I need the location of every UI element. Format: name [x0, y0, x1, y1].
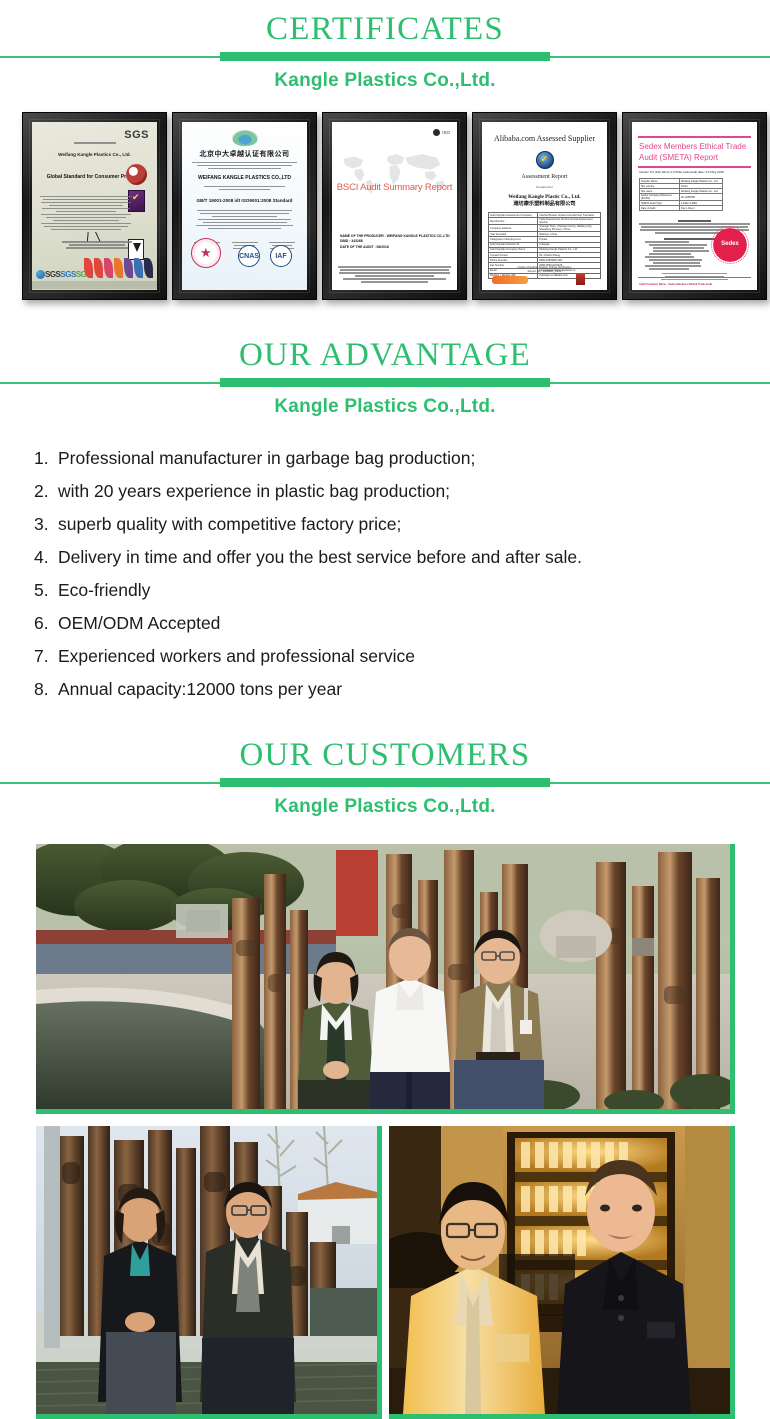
certificate-title: BSCI Audit Summary Report: [332, 182, 457, 193]
list-item-number: 4.: [34, 543, 58, 571]
certificate-title: Sedex Members Ethical Trade Audit (SMETA…: [639, 141, 750, 163]
photo-group-of-three[interactable]: [36, 844, 735, 1114]
verified-badge-icon: [536, 151, 554, 169]
list-item: 8. Annual capacity:12000 tons per year: [34, 675, 744, 703]
certificate-frame-sgs[interactable]: SGS Weifang Kangle Plastics Co., Ltd. Gl…: [22, 112, 167, 300]
certificate-page: 北京中大卓越认证有限公司 WEIFANG KANGLE PLASTICS CO.…: [182, 122, 307, 290]
iaf-logo-icon: IAF: [270, 245, 292, 267]
list-item: 4. Delivery in time and offer you the be…: [34, 543, 744, 571]
section-advantage-header: OUR ADVANTAGE Kangle Plastics Co.,Ltd.: [0, 300, 770, 422]
sgs-logo-text: SGS: [124, 129, 149, 141]
list-item: 6. OEM/ODM Accepted: [34, 609, 744, 637]
list-item-text: Professional manufacturer in garbage bag…: [58, 444, 744, 472]
decorative-ribbon: [32, 254, 157, 280]
certificate-frame-alibaba[interactable]: Alibaba.com Assessed Supplier Assessment…: [472, 112, 617, 300]
photo-image: [389, 1126, 730, 1414]
certificate-company: WEIFANG KANGLE PLASTICS CO.,LTD: [182, 175, 307, 181]
list-item: 5. Eco-friendly: [34, 576, 744, 604]
divider-thick-segment: [220, 52, 550, 61]
certificate-fineprint: [338, 265, 451, 285]
audit-info-table: Supplier NameWeifang Kangle Plastics Co.…: [639, 178, 723, 211]
section-subtitle: Kangle Plastics Co.,Ltd.: [0, 787, 770, 822]
iso-logo-icon: ISO: [433, 129, 450, 136]
certificate-footer-band: [32, 281, 157, 289]
list-item: 1. Professional manufacturer in garbage …: [34, 444, 744, 472]
list-item: 2. with 20 years experience in plastic b…: [34, 477, 744, 505]
top-rule: [638, 136, 751, 138]
photo-image: [36, 1126, 377, 1414]
prepared-for-label: Prepared for: [482, 185, 607, 189]
section-subtitle: Kangle Plastics Co.,Ltd.: [0, 61, 770, 96]
certificate-frame-bsci[interactable]: ISO BSCI Audit Summary Report: [322, 112, 467, 300]
list-item-number: 2.: [34, 477, 58, 505]
red-star-seal-icon: [191, 238, 221, 268]
second-rule: [638, 166, 751, 168]
alibaba-logo-icon: [492, 276, 528, 284]
list-item-number: 5.: [34, 576, 58, 604]
list-item-number: 6.: [34, 609, 58, 637]
footer-rule: [638, 277, 751, 278]
list-item-number: 7.: [34, 642, 58, 670]
section-subtitle: Kangle Plastics Co.,Ltd.: [0, 387, 770, 422]
sgs-seal-icon: [126, 164, 147, 185]
list-item-number: 3.: [34, 510, 58, 538]
advantages-list: 1. Professional manufacturer in garbage …: [0, 422, 770, 703]
list-item-text: OEM/ODM Accepted: [58, 609, 744, 637]
customer-photos: [0, 822, 770, 1419]
certificate-frame-sedex[interactable]: Sedex Members Ethical Trade Audit (SMETA…: [622, 112, 767, 300]
list-item-text: Eco-friendly: [58, 576, 744, 604]
divider-thick-segment: [220, 378, 550, 387]
certificate-footer-note: Audit Company Name · Sedex Members Ethic…: [639, 283, 712, 286]
certificate-company: Weifang Kangle Plastics Co., Ltd.: [32, 152, 157, 158]
red-seal-icon: [576, 274, 585, 285]
list-item-number: 8.: [34, 675, 58, 703]
title-divider: [0, 52, 770, 61]
certificate-title: Alibaba.com Assessed Supplier: [482, 134, 607, 143]
photo-row: [36, 1126, 735, 1419]
list-item: 7. Experienced workers and professional …: [34, 642, 744, 670]
certification-body-logo-icon: [232, 130, 258, 146]
certificate-footer-note: Onsite Checking System Online Verificati…: [482, 265, 607, 273]
list-item-text: Delivery in time and offer you the best …: [58, 543, 744, 571]
photo-pair-outdoors[interactable]: [36, 1126, 382, 1419]
certificate-standard: GB/T 19001-2008 idt ISO9001:2008 Standar…: [182, 198, 307, 203]
photo-image: [36, 844, 730, 1109]
title-divider: [0, 778, 770, 787]
certificate-page: Alibaba.com Assessed Supplier Assessment…: [482, 122, 607, 290]
certificate-company: Weifang Kangle Plastic Co., Ltd. 潍坊康乐塑料制…: [482, 194, 607, 208]
section-title: CERTIFICATES: [0, 0, 770, 52]
certificate-subtitle: Assessment Report: [482, 174, 607, 180]
list-item-text: Experienced workers and professional ser…: [58, 642, 744, 670]
certificate-frame-iso9001[interactable]: 北京中大卓越认证有限公司 WEIFANG KANGLE PLASTICS CO.…: [172, 112, 317, 300]
list-item-text: with 20 years experience in plastic bag …: [58, 477, 744, 505]
list-item-text: superb quality with competitive factory …: [58, 510, 744, 538]
section-title: OUR CUSTOMERS: [0, 726, 770, 778]
list-item-number: 1.: [34, 444, 58, 472]
section-customers-header: OUR CUSTOMERS Kangle Plastics Co.,Ltd.: [0, 708, 770, 822]
certificate-meta: NAME OF THE PRODUCER : WEIFANG KANGLE PL…: [340, 234, 450, 251]
certificate-page: Sedex Members Ethical Trade Audit (SMETA…: [632, 122, 757, 290]
section-title: OUR ADVANTAGE: [0, 326, 770, 378]
certificates-strip: SGS Weifang Kangle Plastics Co., Ltd. Gl…: [0, 96, 770, 300]
section-certificates-header: CERTIFICATES Kangle Plastics Co.,Ltd.: [0, 0, 770, 96]
certificate-page: SGS Weifang Kangle Plastics Co., Ltd. Gl…: [32, 122, 157, 290]
certificate-page: ISO BSCI Audit Summary Report: [332, 122, 457, 290]
list-item: 3. superb quality with competitive facto…: [34, 510, 744, 538]
divider-thick-segment: [220, 778, 550, 787]
issuer-name-chinese: 北京中大卓越认证有限公司: [182, 149, 307, 159]
cnas-logo-icon: CNAS: [238, 245, 260, 267]
list-item-text: Annual capacity:12000 tons per year: [58, 675, 744, 703]
photo-pair-indoors[interactable]: [389, 1126, 735, 1419]
title-divider: [0, 378, 770, 387]
sedex-logo-icon: Sedex: [711, 226, 749, 264]
certificate-version: Version 5.0 (Feb 2014) 4.0 Pillar Audit …: [639, 170, 750, 174]
